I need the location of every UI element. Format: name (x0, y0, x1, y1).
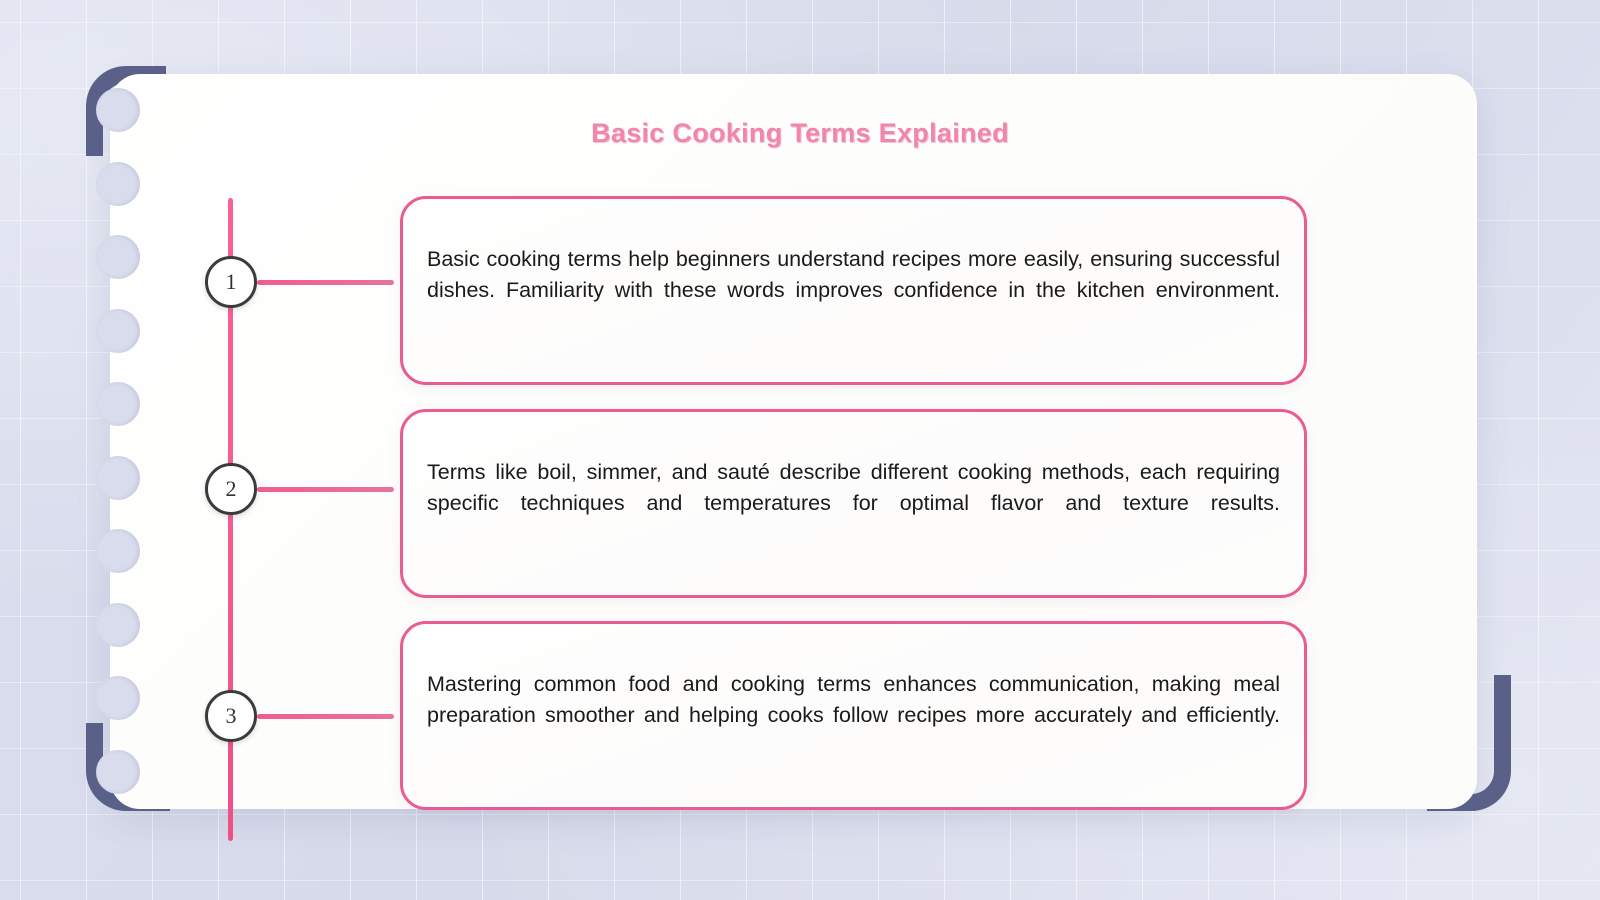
timeline-card-1[interactable]: Basic cooking terms help beginners under… (400, 196, 1307, 385)
timeline-card-3-text: Mastering common food and cooking terms … (403, 669, 1304, 762)
timeline-card-3[interactable]: Mastering common food and cooking terms … (400, 621, 1307, 810)
timeline-node-3[interactable]: 3 (205, 690, 257, 742)
timeline-connector-3 (257, 714, 394, 719)
timeline-node-1[interactable]: 1 (205, 256, 257, 308)
timeline-card-2[interactable]: Terms like boil, simmer, and sauté descr… (400, 409, 1307, 598)
infographic-canvas: Basic Cooking Terms Explained 1 2 3 Basi… (0, 0, 1600, 900)
timeline-connector-1 (257, 280, 394, 285)
timeline-node-2[interactable]: 2 (205, 463, 257, 515)
timeline-card-2-text: Terms like boil, simmer, and sauté descr… (403, 457, 1304, 550)
page-title: Basic Cooking Terms Explained (0, 118, 1600, 149)
timeline-connector-2 (257, 487, 394, 492)
timeline-card-1-text: Basic cooking terms help beginners under… (403, 244, 1304, 337)
